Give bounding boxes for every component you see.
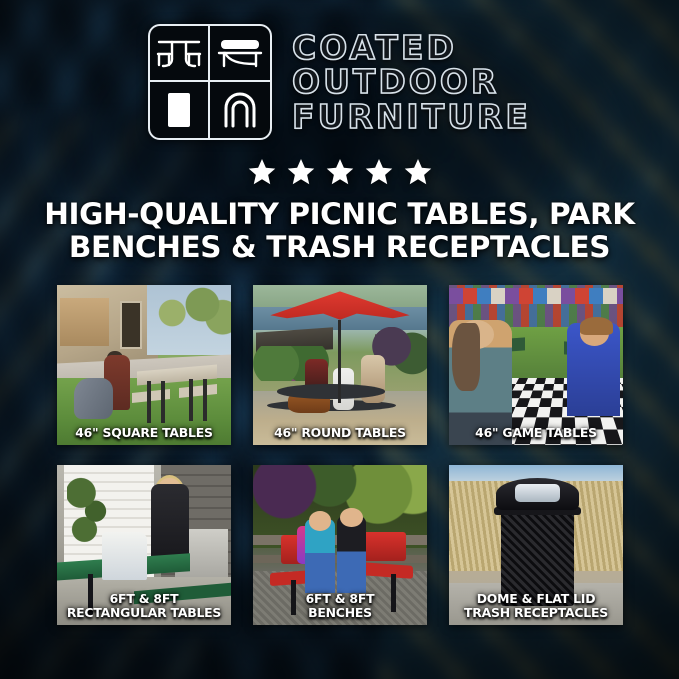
logo-icon-grid <box>148 24 272 140</box>
caption-line-1: 6FT & 8FT <box>110 591 179 606</box>
caption-line-1: 46" SQUARE TABLES <box>75 425 212 440</box>
caption-line-1: 46" ROUND TABLES <box>274 425 406 440</box>
caption-line-1: DOME & FLAT LID <box>477 591 596 606</box>
headline-line-2: BENCHES & TRASH RECEPTACLES <box>28 231 651 264</box>
headline: HIGH-QUALITY PICNIC TABLES, PARK BENCHES… <box>28 198 651 265</box>
wordmark-line-1: COATED <box>292 31 531 65</box>
product-card-trash-receptacles[interactable]: DOME & FLAT LID TRASH RECEPTACLES <box>449 465 623 625</box>
product-card-square-tables[interactable]: 46" SQUARE TABLES <box>57 285 231 445</box>
star-icon <box>364 157 394 187</box>
star-rating <box>0 157 679 187</box>
product-caption: 6FT & 8FT RECTANGULAR TABLES <box>61 592 227 620</box>
caption-line-1: 6FT & 8FT <box>306 591 375 606</box>
product-caption: 6FT & 8FT BENCHES <box>257 592 423 620</box>
star-icon <box>325 157 355 187</box>
caption-line-2: RECTANGULAR TABLES <box>61 606 227 620</box>
brand-wordmark: COATED OUTDOOR FURNITURE <box>292 31 531 134</box>
product-caption: 46" ROUND TABLES <box>257 426 423 440</box>
bench-icon <box>210 26 270 82</box>
product-grid: 46" SQUARE TABLES 46" ROUND TABLES <box>57 285 623 625</box>
product-card-round-tables[interactable]: 46" ROUND TABLES <box>253 285 427 445</box>
wordmark-line-3: FURNITURE <box>292 100 531 134</box>
wordmark-line-2: OUTDOOR <box>292 65 531 99</box>
product-caption: 46" SQUARE TABLES <box>61 426 227 440</box>
caption-line-2: TRASH RECEPTACLES <box>453 606 619 620</box>
product-photo <box>253 285 427 445</box>
product-banner: COATED OUTDOOR FURNITURE HIGH-QUALITY PI… <box>0 0 679 679</box>
headline-line-1: HIGH-QUALITY PICNIC TABLES, PARK <box>44 197 634 231</box>
bike-rack-icon <box>210 82 270 138</box>
product-card-game-tables[interactable]: 46" GAME TABLES <box>449 285 623 445</box>
picnic-table-icon <box>150 26 210 82</box>
caption-line-2: BENCHES <box>257 606 423 620</box>
caption-line-1: 46" GAME TABLES <box>475 425 597 440</box>
product-card-rectangular-tables[interactable]: 6FT & 8FT RECTANGULAR TABLES <box>57 465 231 625</box>
product-photo <box>449 285 623 445</box>
star-icon <box>286 157 316 187</box>
product-caption: 46" GAME TABLES <box>453 426 619 440</box>
star-icon <box>247 157 277 187</box>
star-icon <box>403 157 433 187</box>
product-card-benches[interactable]: 6FT & 8FT BENCHES <box>253 465 427 625</box>
trash-receptacle-icon <box>150 82 210 138</box>
product-caption: DOME & FLAT LID TRASH RECEPTACLES <box>453 592 619 620</box>
brand-logo: COATED OUTDOOR FURNITURE <box>0 24 679 140</box>
product-photo <box>57 285 231 445</box>
